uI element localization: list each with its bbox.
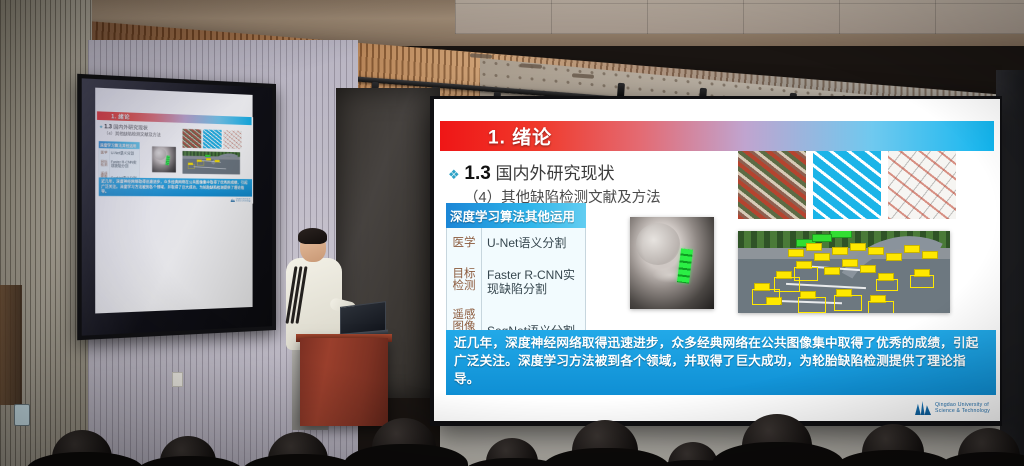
traffic-detection-image-mini	[183, 151, 240, 174]
university-logo: Qingdao University of Science & Technolo…	[915, 401, 990, 415]
building-segmentation-mask	[203, 130, 221, 149]
xray-skull-region	[636, 223, 680, 265]
university-logo-text: Qingdao University of Science & Technolo…	[236, 198, 251, 202]
detection-label	[814, 253, 830, 261]
xray-skull-region	[154, 148, 166, 160]
detection-label	[922, 251, 938, 259]
detection-label	[215, 160, 220, 162]
building-segmentation-mask	[813, 151, 881, 219]
slide-bullet-text: 国内外研究现状	[496, 164, 615, 183]
preview-monitor-slide: 1. 绪论 ❖ 1.3 国内外研究现状 （4）其他缺陷检测文献及方法 深度学习算…	[95, 88, 252, 314]
table-row: U-Net语义分割	[482, 228, 585, 260]
table-row: 医学	[99, 148, 109, 157]
preview-slide-canvas: 1. 绪论 ❖ 1.3 国内外研究现状 （4）其他缺陷检测文献及方法 深度学习算…	[95, 111, 253, 203]
detection-box	[798, 297, 826, 313]
slide-title: 1. 绪论	[488, 123, 552, 150]
slide-title-bar: 1. 绪论	[440, 121, 994, 151]
speaker-podium	[300, 338, 388, 426]
light-switch-plate[interactable]	[172, 372, 183, 387]
table-row: 目标检测	[447, 258, 481, 302]
presenter-hair	[298, 228, 327, 244]
detection-box	[868, 301, 894, 313]
detection-label	[806, 243, 822, 251]
detection-label-green	[830, 231, 852, 238]
slide-title-mini: 1. 绪论	[111, 112, 130, 120]
table-row: 医学	[447, 228, 481, 258]
xray-image-mini	[152, 146, 176, 172]
detection-label	[832, 247, 848, 255]
diamond-bullet-icon: ❖	[448, 167, 460, 182]
slide-note-box: 近几年，深度神经网络取得迅速进步，众多经典网络在公共图像集中取得了优秀的成绩，引…	[446, 330, 996, 395]
aerial-image-row-mini	[183, 129, 242, 149]
audience-phone[interactable]	[14, 404, 30, 426]
detection-label	[788, 249, 804, 257]
xray-image	[630, 217, 714, 309]
university-logo-mark-icon	[915, 401, 931, 415]
satellite-rgb-image	[183, 129, 202, 148]
building-outline-map	[223, 130, 241, 149]
aerial-image-row	[738, 151, 956, 219]
table-row: Faster R-CNN实现缺陷分割	[109, 158, 139, 172]
xray-spine-segmentation	[677, 248, 693, 283]
detection-label	[206, 158, 211, 160]
university-logo-text: Qingdao University of Science & Technolo…	[935, 402, 990, 415]
lecture-hall-scene: 1. 绪论 ❖ 1.3 国内外研究现状 （4）其他缺陷检测文献及方法 深度学习算…	[0, 0, 1024, 466]
detection-label	[842, 259, 858, 267]
slide-bullet-number: 1.3	[464, 163, 490, 184]
detection-box	[188, 164, 195, 168]
traffic-detection-image	[738, 231, 950, 313]
detection-label-green	[205, 155, 210, 157]
detection-box	[876, 279, 898, 291]
university-logo-mark-icon	[231, 198, 235, 202]
ceiling-tiles	[455, 0, 1024, 34]
slide-note-box-mini: 近几年，深度神经网络取得迅速进步，众多经典网络在公共图像集中取得了优秀的成绩，引…	[99, 178, 252, 197]
detection-label	[886, 253, 902, 261]
projection-screen: 1. 绪论 ❖ 1.3 国内外研究现状 （4）其他缺陷检测文献及方法 深度学习算…	[434, 99, 1000, 421]
detection-label	[850, 243, 866, 251]
university-logo-mini: Qingdao University of Science & Technolo…	[231, 198, 251, 202]
wall-frame-decor	[0, 285, 22, 405]
table-row: Faster R-CNN实现缺陷分割	[482, 260, 585, 306]
detection-box	[197, 161, 204, 165]
xray-spine-segmentation	[165, 155, 170, 165]
detection-box	[910, 275, 934, 288]
detection-box	[794, 267, 818, 281]
preview-monitor: 1. 绪论 ❖ 1.3 国内外研究现状 （4）其他缺陷检测文献及方法 深度学习算…	[77, 74, 276, 340]
detection-label	[904, 245, 920, 253]
methods-table-header: 深度学习算法其他运用	[446, 203, 586, 228]
diamond-bullet-icon: ❖	[99, 125, 102, 129]
slide-bullet-number-mini: 1.3	[104, 124, 112, 130]
detection-label	[824, 267, 840, 275]
table-row: 目标检测	[99, 157, 109, 170]
building-outline-map	[888, 151, 956, 219]
detection-label	[868, 247, 884, 255]
satellite-rgb-image	[738, 151, 806, 219]
detection-label-green	[812, 234, 832, 242]
detection-label	[860, 265, 876, 273]
detection-box	[834, 295, 862, 311]
